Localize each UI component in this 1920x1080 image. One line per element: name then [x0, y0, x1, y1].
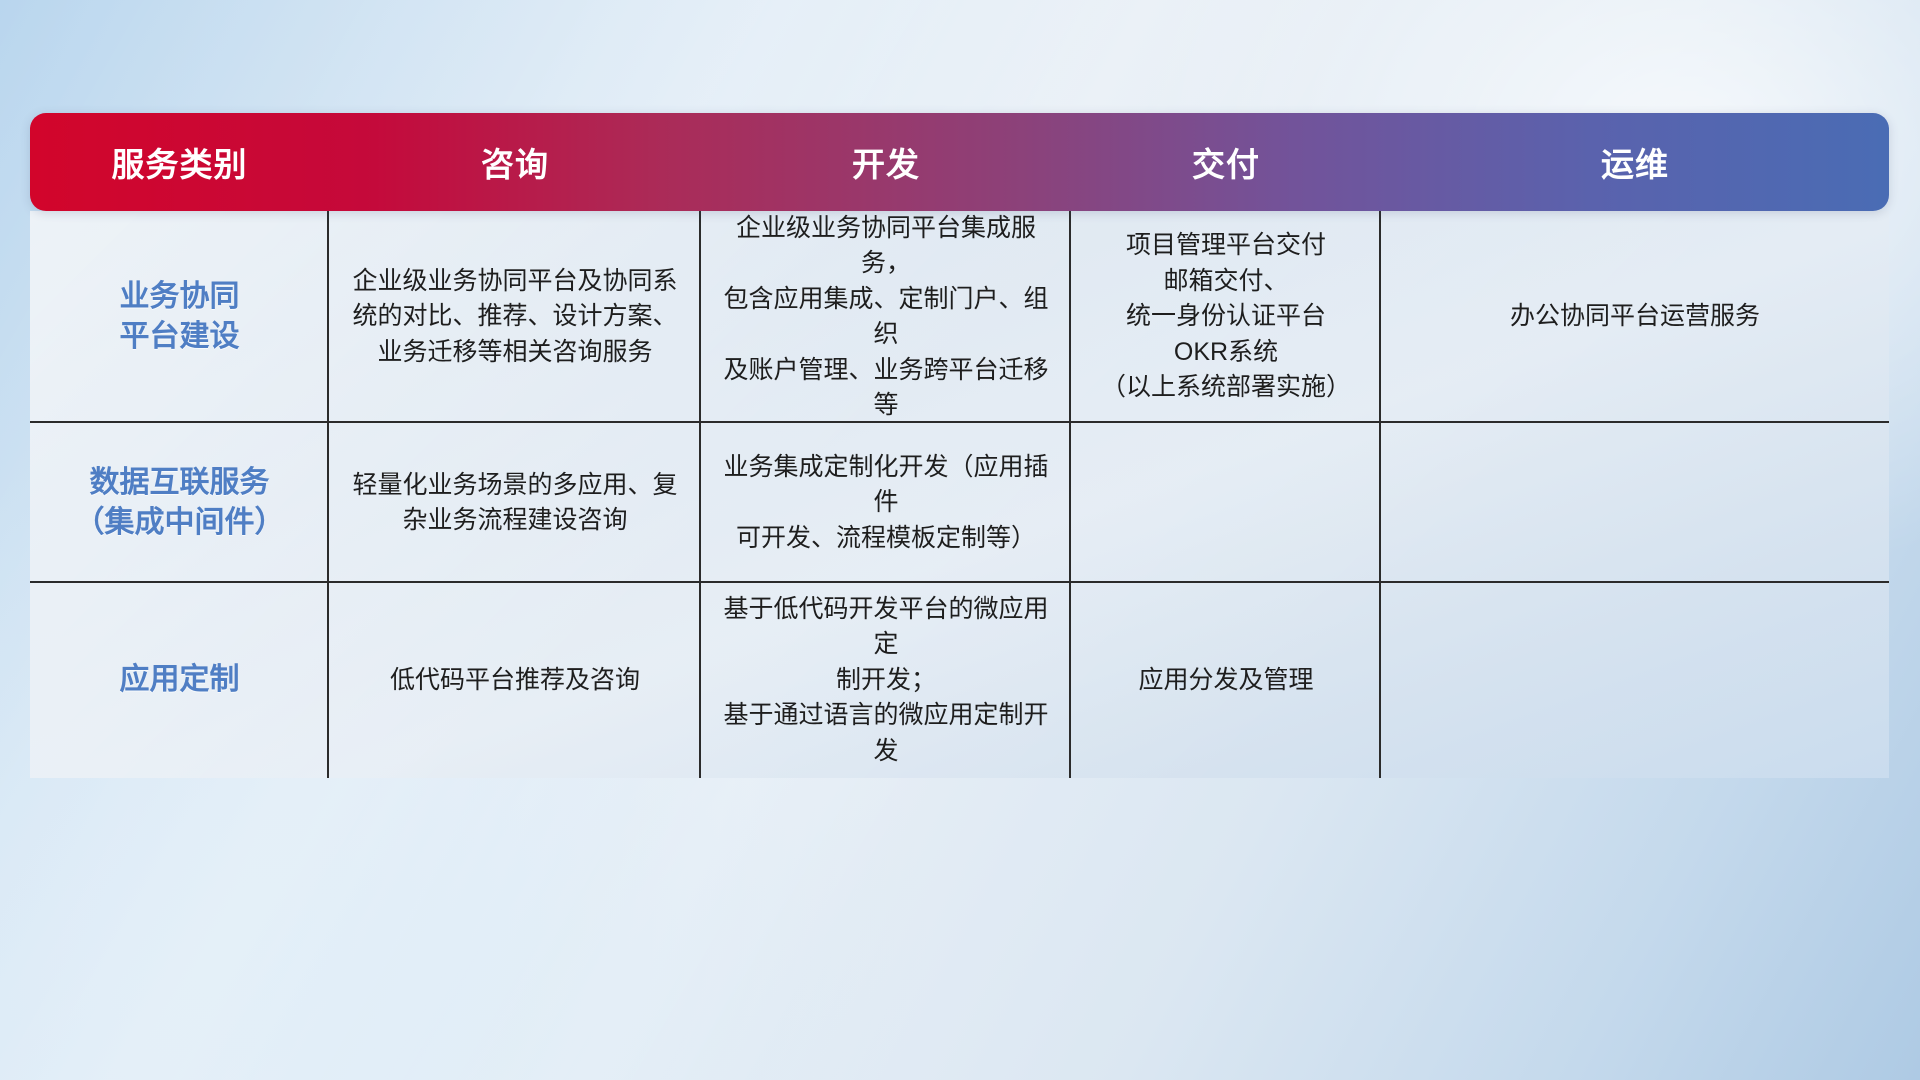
cell-text: 应用分发及管理 [1138, 663, 1313, 699]
cell-operations [1381, 583, 1889, 778]
table-row: 应用定制 低代码平台推荐及咨询 基于低代码开发平台的微应用定 制开发； 基于通过… [30, 583, 1889, 778]
category-label: 应用定制 [120, 660, 240, 700]
services-matrix-table: 服务类别 咨询 开发 交付 运维 业务协同 平台建设 企业级业务协同平台及协同系… [30, 113, 1889, 778]
cell-development: 基于低代码开发平台的微应用定 制开发； 基于通过语言的微应用定制开发 [701, 583, 1071, 778]
cell-consulting: 低代码平台推荐及咨询 [329, 583, 701, 778]
cell-delivery: 项目管理平台交付 邮箱交付、 统一身份认证平台 OKR系统 （以上系统部署实施） [1071, 211, 1381, 423]
cell-text: 办公协同平台运营服务 [1510, 299, 1760, 335]
row-category-cell: 数据互联服务 （集成中间件） [30, 423, 329, 583]
cell-operations: 办公协同平台运营服务 [1381, 211, 1889, 423]
cell-text: 业务集成定制化开发（应用插件 可开发、流程模板定制等） [715, 450, 1057, 557]
row-category-cell: 业务协同 平台建设 [30, 211, 329, 423]
category-label: 数据互联服务 （集成中间件） [75, 463, 285, 543]
table-header-row: 服务类别 咨询 开发 交付 运维 [30, 113, 1889, 211]
cell-text: 低代码平台推荐及咨询 [390, 663, 640, 699]
table-row: 业务协同 平台建设 企业级业务协同平台及协同系 统的对比、推荐、设计方案、 业务… [30, 211, 1889, 423]
cell-delivery [1071, 423, 1381, 583]
column-header-service-category: 服务类别 [30, 138, 329, 186]
cell-consulting: 轻量化业务场景的多应用、复 杂业务流程建设咨询 [329, 423, 701, 583]
cell-text: 项目管理平台交付 邮箱交付、 统一身份认证平台 OKR系统 （以上系统部署实施） [1101, 228, 1351, 406]
cell-operations [1381, 423, 1889, 583]
table-body: 业务协同 平台建设 企业级业务协同平台及协同系 统的对比、推荐、设计方案、 业务… [30, 211, 1889, 778]
category-label: 业务协同 平台建设 [120, 277, 240, 357]
cell-text: 基于低代码开发平台的微应用定 制开发； 基于通过语言的微应用定制开发 [715, 592, 1057, 770]
row-category-cell: 应用定制 [30, 583, 329, 778]
column-header-operations: 运维 [1381, 138, 1889, 186]
column-header-delivery: 交付 [1071, 138, 1381, 186]
cell-development: 业务集成定制化开发（应用插件 可开发、流程模板定制等） [701, 423, 1071, 583]
column-header-consulting: 咨询 [329, 138, 701, 186]
column-header-development: 开发 [701, 138, 1071, 186]
table-row: 数据互联服务 （集成中间件） 轻量化业务场景的多应用、复 杂业务流程建设咨询 业… [30, 423, 1889, 583]
cell-text: 企业级业务协同平台集成服务， 包含应用集成、定制门户、组织 及账户管理、业务跨平… [715, 211, 1057, 424]
cell-text: 企业级业务协同平台及协同系 统的对比、推荐、设计方案、 业务迁移等相关咨询服务 [352, 264, 677, 371]
cell-consulting: 企业级业务协同平台及协同系 统的对比、推荐、设计方案、 业务迁移等相关咨询服务 [329, 211, 701, 423]
cell-development: 企业级业务协同平台集成服务， 包含应用集成、定制门户、组织 及账户管理、业务跨平… [701, 211, 1071, 423]
cell-delivery: 应用分发及管理 [1071, 583, 1381, 778]
cell-text: 轻量化业务场景的多应用、复 杂业务流程建设咨询 [352, 468, 677, 539]
